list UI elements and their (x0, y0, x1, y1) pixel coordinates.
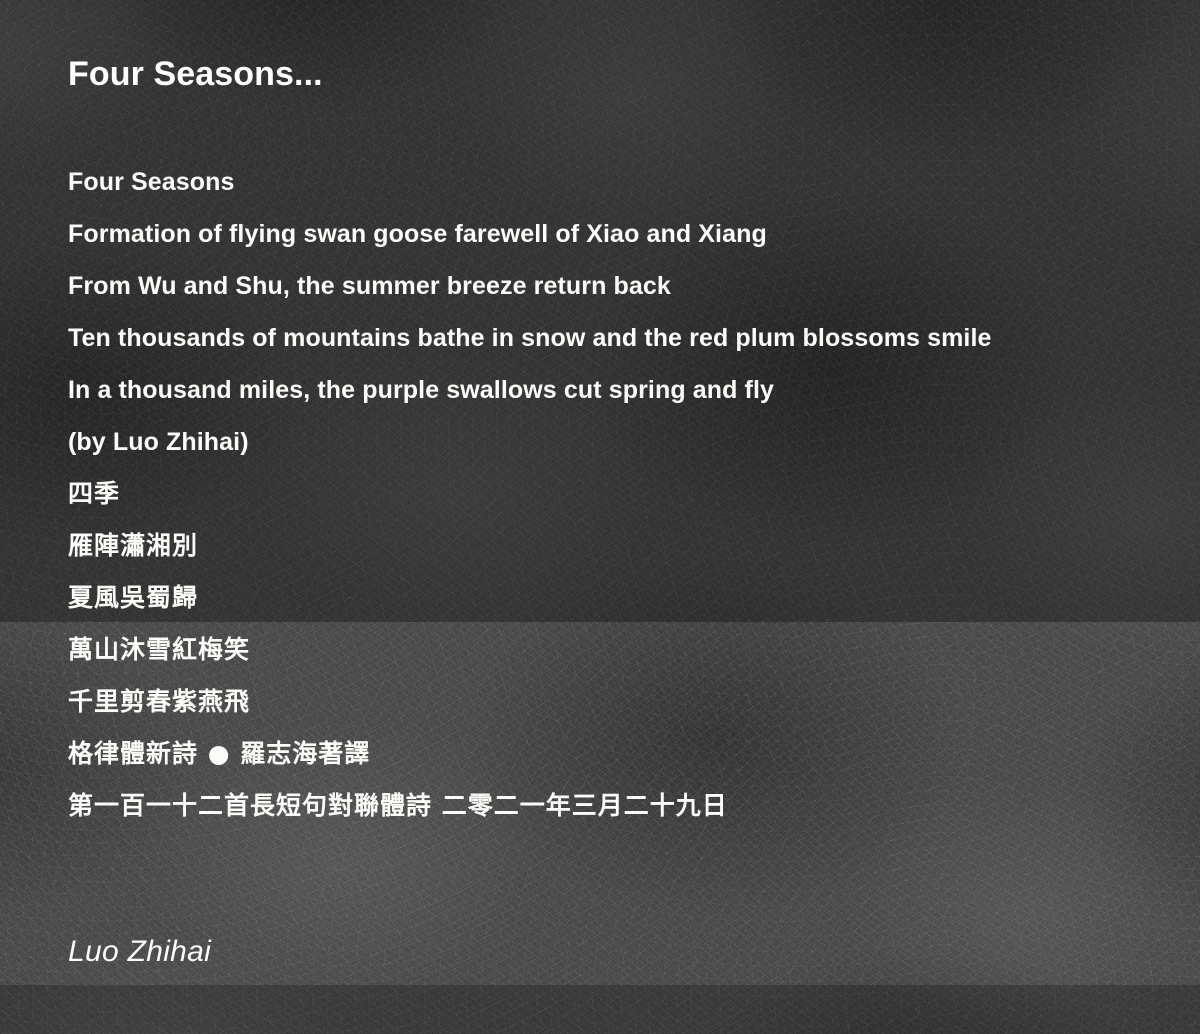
poem-line-zh-byline: 格律體新詩 ● 羅志海著譯 (68, 728, 1200, 780)
poem-line-en-4: In a thousand miles, the purple swallows… (68, 364, 1200, 416)
poem-line-en-byline: (by Luo Zhihai) (68, 416, 1200, 468)
poem-line-en-1: Formation of flying swan goose farewell … (68, 208, 1200, 260)
poem-content: Four Seasons... Four SeasonsFormation of… (0, 0, 1200, 1034)
poem-line-en-2: From Wu and Shu, the summer breeze retur… (68, 260, 1200, 312)
poem-line-zh-3: 萬山沐雪紅梅笑 (68, 624, 1200, 676)
poem-line-en-3: Ten thousands of mountains bathe in snow… (68, 312, 1200, 364)
poem-line-en-title: Four Seasons (68, 156, 1200, 208)
poem-line-zh-1: 雁陣瀟湘別 (68, 520, 1200, 572)
poem-line-zh-4: 千里剪春紫燕飛 (68, 676, 1200, 728)
poem-line-zh-meta: 第一百一十二首長短句對聯體詩 二零二一年三月二十九日 (68, 780, 1200, 832)
poem-body: Four SeasonsFormation of flying swan goo… (68, 156, 1200, 832)
poem-line-zh-title: 四季 (68, 468, 1200, 520)
page-title: Four Seasons... (68, 55, 323, 94)
poem-line-zh-2: 夏風吳蜀歸 (68, 572, 1200, 624)
author-signature: Luo Zhihai (68, 935, 211, 969)
